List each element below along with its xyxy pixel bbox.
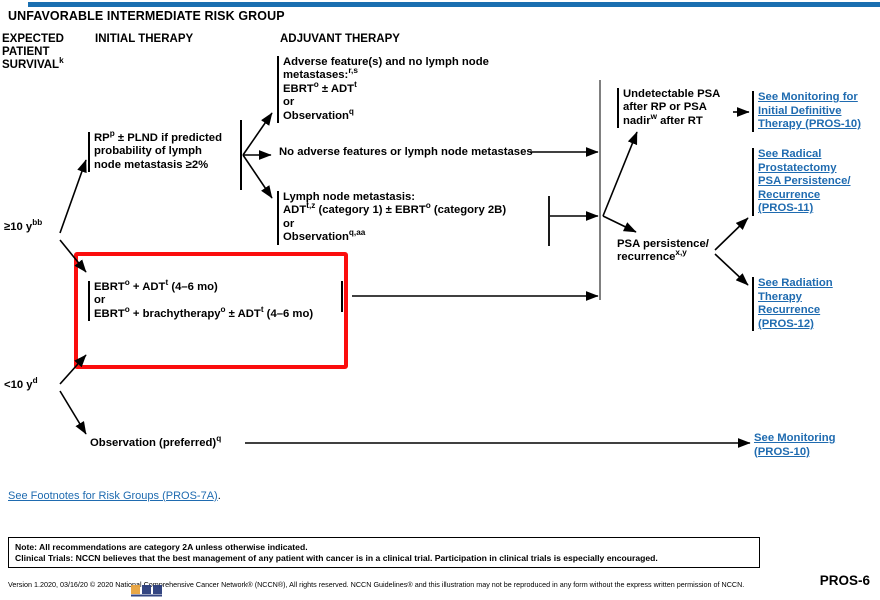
adverse-line1: Adverse feature(s) and no lymph node [283,56,489,69]
persistence-line2: recurrencex,y [617,251,709,264]
initial-therapy-rp-plnd: RPp ± PLND if predicted probability of l… [88,132,222,172]
note-box: Note: All recommendations are category 2… [8,537,760,568]
ebrt-option-2: EBRTo + brachytherapyo ± ADTt (4–6 mo) [94,308,313,321]
initial-therapy-observation: Observation (preferred)q [90,437,221,450]
lymph-line1: Lymph node metastasis: [283,191,506,204]
survival-label-lt10y: <10 yd [4,379,38,391]
nccn-logo-watermark [130,583,172,598]
rp-line2: probability of lymph [94,145,222,158]
undetectable-line1: Undetectable PSA [623,88,720,101]
ebrt-option-1: EBRTo + ADTt (4–6 mo) [94,281,313,294]
adverse-line5: Observationq [283,110,489,123]
outcome-undetectable-psa: Undetectable PSA after RP or PSA nadirw … [617,88,720,128]
undetectable-line2: after RP or PSA [623,101,720,114]
persistence-line1: PSA persistence/ [617,238,709,251]
column-header-survival-line2: PATIENT [2,46,64,59]
arrow-collector-to-undetectable [603,132,637,216]
column-header-initial-therapy: INITIAL THERAPY [95,33,193,46]
lymph-line3: or [283,218,506,231]
arrow-persistence-to-rt-link [715,254,748,285]
column-header-survival-line1: EXPECTED [2,33,64,46]
outcome-psa-persistence: PSA persistence/ recurrencex,y [617,238,709,265]
arrow-lt10y-to-observation [60,391,86,434]
undetectable-line3: nadirw after RT [623,115,720,128]
note-line-category: Note: All recommendations are category 2… [15,542,753,553]
arrow-ge10y-to-rp [60,160,86,233]
link-radical-prostatectomy-psa-persistence[interactable]: See Radical Prostatectomy PSA Persistenc… [752,148,851,216]
adverse-line4: or [283,96,489,109]
link-monitoring-initial-definitive-therapy[interactable]: See Monitoring for Initial Definitive Th… [752,91,861,132]
header-rule [28,2,880,7]
note-line-clinical-trials: Clinical Trials: NCCN believes that the … [15,553,753,564]
page-title: UNFAVORABLE INTERMEDIATE RISK GROUP [8,9,285,23]
adjuvant-adverse-features: Adverse feature(s) and no lymph node met… [277,56,489,123]
survival-label-ge10y: ≥10 ybb [4,221,42,233]
arrow-rp-to-adverse [243,113,272,155]
page-number: PROS-6 [820,573,870,588]
rp-line1: RPp ± PLND if predicted [94,132,222,145]
rp-line3: node metastasis ≥2% [94,159,222,172]
column-header-survival: EXPECTED PATIENT SURVIVALk [2,33,64,72]
arrow-collector-to-persistence [603,216,636,232]
link-monitoring-pros10[interactable]: See Monitoring (PROS-10) [754,432,836,459]
adverse-line3: EBRTo ± ADTt [283,83,489,96]
link-footnotes-risk-groups[interactable]: See Footnotes for Risk Groups (PROS-7A). [8,490,221,502]
initial-therapy-ebrt-options: EBRTo + ADTt (4–6 mo) or EBRTo + brachyt… [88,281,313,321]
footer-version-copyright: Version 1.2020, 03/16/20 © 2020 National… [8,580,744,589]
arrow-persistence-to-rp-link [715,218,748,250]
link-radiation-therapy-recurrence[interactable]: See Radiation Therapy Recurrence (PROS-1… [752,277,833,331]
adjuvant-lymph-node-metastasis: Lymph node metastasis: ADTt,z (category … [277,191,506,245]
adjuvant-no-adverse-features: No adverse features or lymph node metast… [279,146,533,159]
column-header-survival-line3: SURVIVALk [2,59,64,72]
lymph-line2: ADTt,z (category 1) ± EBRTo (category 2B… [283,204,506,217]
column-header-adjuvant-therapy: ADJUVANT THERAPY [280,33,400,46]
lymph-line4: Observationq,aa [283,231,506,244]
arrow-rp-to-lymph-node [243,155,272,198]
